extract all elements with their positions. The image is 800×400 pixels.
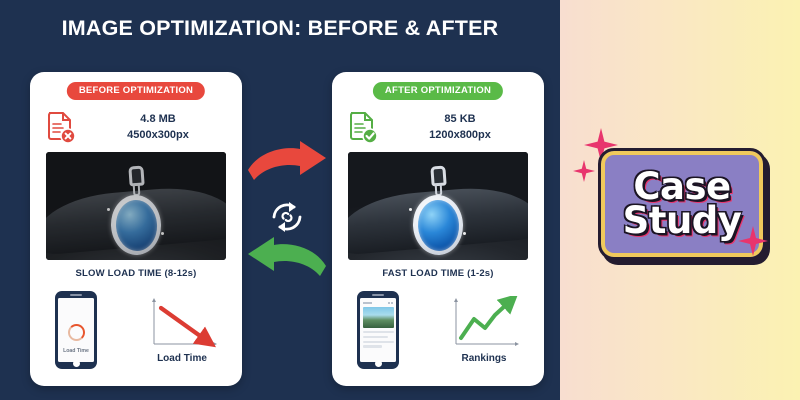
before-load-time-label: SLOW LOAD TIME (8-12s) <box>30 268 242 279</box>
after-phone-wrap <box>332 291 424 369</box>
document-check-icon <box>332 111 394 145</box>
page-title: IMAGE OPTIMIZATION: BEFORE & AFTER <box>0 16 560 41</box>
before-chart-wrap: Load Time <box>122 296 242 364</box>
phone-mockup-fast <box>357 291 399 369</box>
after-file-size: 85 KB <box>394 112 526 128</box>
phone-speaker <box>372 294 384 296</box>
pendant-scene-before <box>46 152 226 260</box>
phone-home-button <box>375 360 382 367</box>
red-right-arrow-icon <box>244 140 330 191</box>
infographic-canvas: IMAGE OPTIMIZATION: BEFORE & AFTER BEFOR… <box>0 0 800 400</box>
before-phone-wrap: Load Time <box>30 291 122 369</box>
before-optimization-card: BEFORE OPTIMIZATION <box>30 72 242 386</box>
phone-page-text-lines <box>363 331 394 350</box>
phone-home-button <box>73 360 80 367</box>
phone-screen-slow: Load Time <box>58 298 94 362</box>
before-file-size: 4.8 MB <box>92 112 224 128</box>
before-dimensions: 4500x300px <box>92 128 224 144</box>
phone-screen-fast <box>360 298 396 362</box>
phone-page-topbar <box>362 300 394 305</box>
case-study-line-2: Study <box>623 203 742 239</box>
phone-page-logo <box>363 302 372 304</box>
before-file-stats: 4.8 MB 4500x300px <box>92 112 242 144</box>
transformation-arrows <box>242 140 332 285</box>
after-product-photo <box>348 152 528 260</box>
phone-page-hero-image <box>363 307 394 328</box>
after-metrics-row: Rankings <box>332 284 544 376</box>
rankings-chart <box>447 296 521 352</box>
phone-screen-label-before: Load Time <box>58 348 94 354</box>
rankings-chart-caption: Rankings <box>461 353 506 364</box>
after-dimensions: 1200x800px <box>394 128 526 144</box>
phone-speaker <box>70 294 82 296</box>
after-load-time-label: FAST LOAD TIME (1-2s) <box>332 268 544 279</box>
after-optimization-card: AFTER OPTIMIZATION 85 KB 1200x800p <box>332 72 544 386</box>
status-badge-after: AFTER OPTIMIZATION <box>373 82 503 100</box>
after-chart-wrap: Rankings <box>424 296 544 364</box>
before-product-photo <box>46 152 226 260</box>
case-study-text: Case Study <box>598 148 766 260</box>
after-file-meta: 85 KB 1200x800px <box>332 106 544 150</box>
load-time-chart <box>145 296 219 352</box>
after-file-stats: 85 KB 1200x800px <box>394 112 544 144</box>
pendant-scene-after <box>348 152 528 260</box>
load-time-chart-caption: Load Time <box>157 353 207 364</box>
loading-spinner-icon <box>68 324 85 341</box>
document-error-icon <box>30 111 92 145</box>
phone-mockup-slow: Load Time <box>55 291 97 369</box>
phone-page-menu-dots <box>388 302 393 304</box>
before-file-meta: 4.8 MB 4500x300px <box>30 106 242 150</box>
green-left-arrow-icon <box>244 236 330 287</box>
status-badge-before: BEFORE OPTIMIZATION <box>67 82 205 100</box>
before-metrics-row: Load Time <box>30 284 242 376</box>
case-study-badge: Case Study <box>598 148 766 260</box>
